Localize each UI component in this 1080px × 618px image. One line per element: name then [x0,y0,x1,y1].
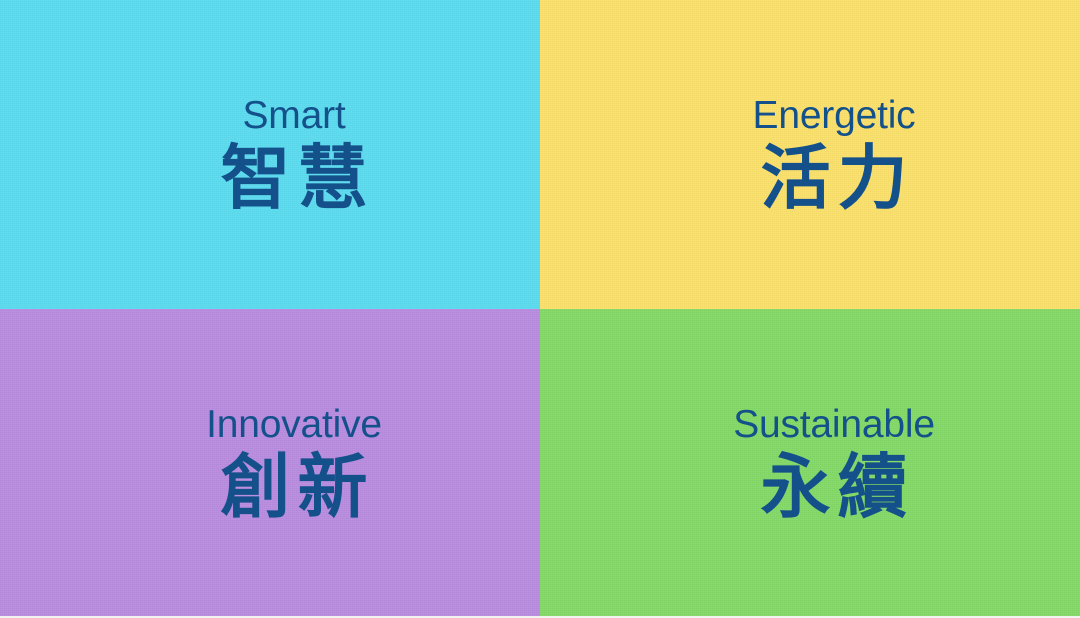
panel-sustainable-text-block: Sustainable 永續 [733,405,935,522]
panel-energetic-text-block: Energetic 活力 [753,96,916,213]
panel-sustainable-label-en: Sustainable [733,405,935,444]
brand-values-grid: Smart 智慧 Energetic 活力 Innovative 創新 Sust… [0,0,1080,618]
panel-smart-text-block: Smart 智慧 [214,96,375,213]
panel-sustainable-label-cjk: 永續 [733,452,935,522]
panel-innovative: Innovative 創新 [0,309,540,618]
panel-smart-label-en: Smart [214,96,375,135]
panel-smart: Smart 智慧 [0,0,540,309]
panel-innovative-text-block: Innovative 創新 [206,405,382,522]
panel-energetic-label-en: Energetic [753,96,916,135]
panel-smart-label-cjk: 智慧 [214,143,375,213]
panel-innovative-label-cjk: 創新 [206,452,382,522]
panel-sustainable: Sustainable 永續 [540,309,1080,618]
panel-energetic: Energetic 活力 [540,0,1080,309]
panel-energetic-label-cjk: 活力 [753,143,916,213]
panel-innovative-label-en: Innovative [206,405,382,444]
